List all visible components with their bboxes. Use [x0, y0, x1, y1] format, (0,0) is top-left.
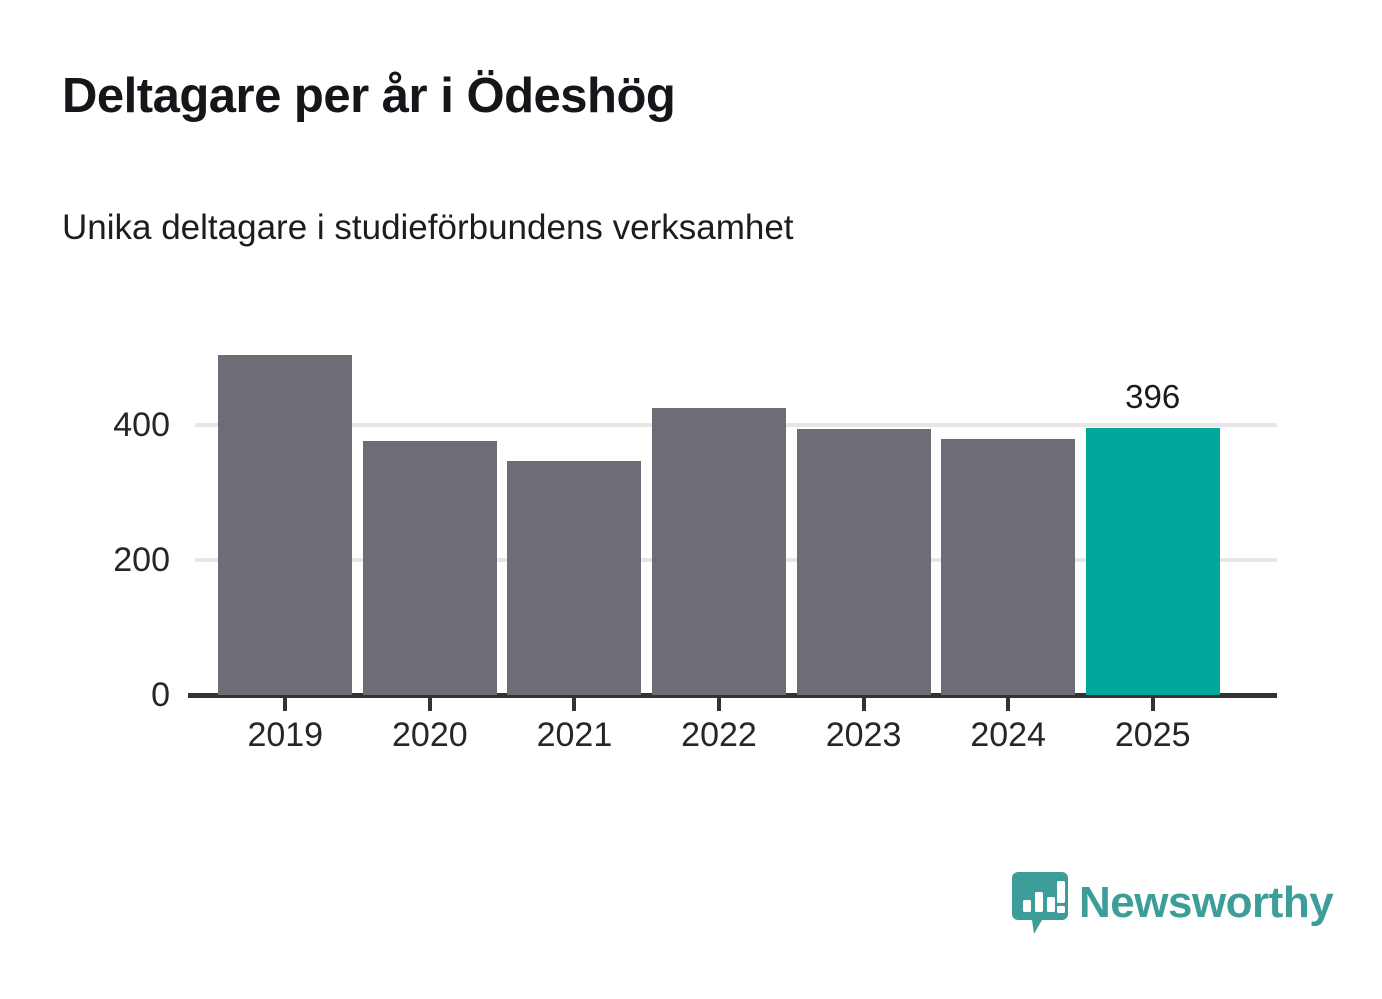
- bar-2020[interactable]: [363, 441, 497, 695]
- x-axis-tick: [283, 698, 287, 711]
- x-axis-tick: [862, 698, 866, 711]
- bar-2022[interactable]: [652, 408, 786, 695]
- y-axis-tick-label: 400: [0, 408, 170, 442]
- bar-2024[interactable]: [941, 439, 1075, 695]
- x-axis-tick: [1151, 698, 1155, 711]
- x-axis-tick: [572, 698, 576, 711]
- y-axis-tick-label: 0: [0, 678, 170, 712]
- x-axis-label-2025: 2025: [1053, 718, 1253, 752]
- bar-2025[interactable]: [1086, 428, 1220, 695]
- bar-value-label-2025: 396: [1053, 380, 1253, 413]
- newsworthy-logo: Newsworthy: [1012, 872, 1333, 934]
- speech-bubble-bar-chart-icon: [1012, 872, 1068, 934]
- bar-2021[interactable]: [507, 461, 641, 695]
- chart-canvas: Deltagare per år i Ödeshög Unika deltaga…: [0, 0, 1382, 999]
- x-axis-tick: [428, 698, 432, 711]
- brand-wordmark: Newsworthy: [1079, 881, 1333, 925]
- y-axis-tick-label: 200: [0, 543, 170, 577]
- x-axis-tick: [717, 698, 721, 711]
- bar-2023[interactable]: [797, 429, 931, 695]
- bar-chart-plot: 02004002019202020212022202320243962025: [0, 0, 1382, 999]
- x-axis-tick: [1006, 698, 1010, 711]
- bar-2019[interactable]: [218, 355, 352, 695]
